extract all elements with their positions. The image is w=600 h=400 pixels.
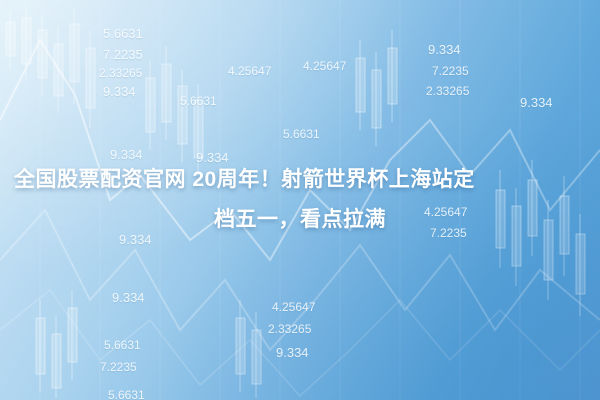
headline-line-1: 全国股票配资官网 20周年！射箭世界杯上海站定	[6, 160, 594, 200]
banner-root: 5.66317.22352.332654.256474.256479.3347.…	[0, 0, 600, 400]
headline: 全国股票配资官网 20周年！射箭世界杯上海站定 档五一，看点拉满	[0, 160, 600, 240]
headline-line-2: 档五一，看点拉满	[6, 200, 594, 240]
trend-line-tertiary	[0, 290, 600, 396]
